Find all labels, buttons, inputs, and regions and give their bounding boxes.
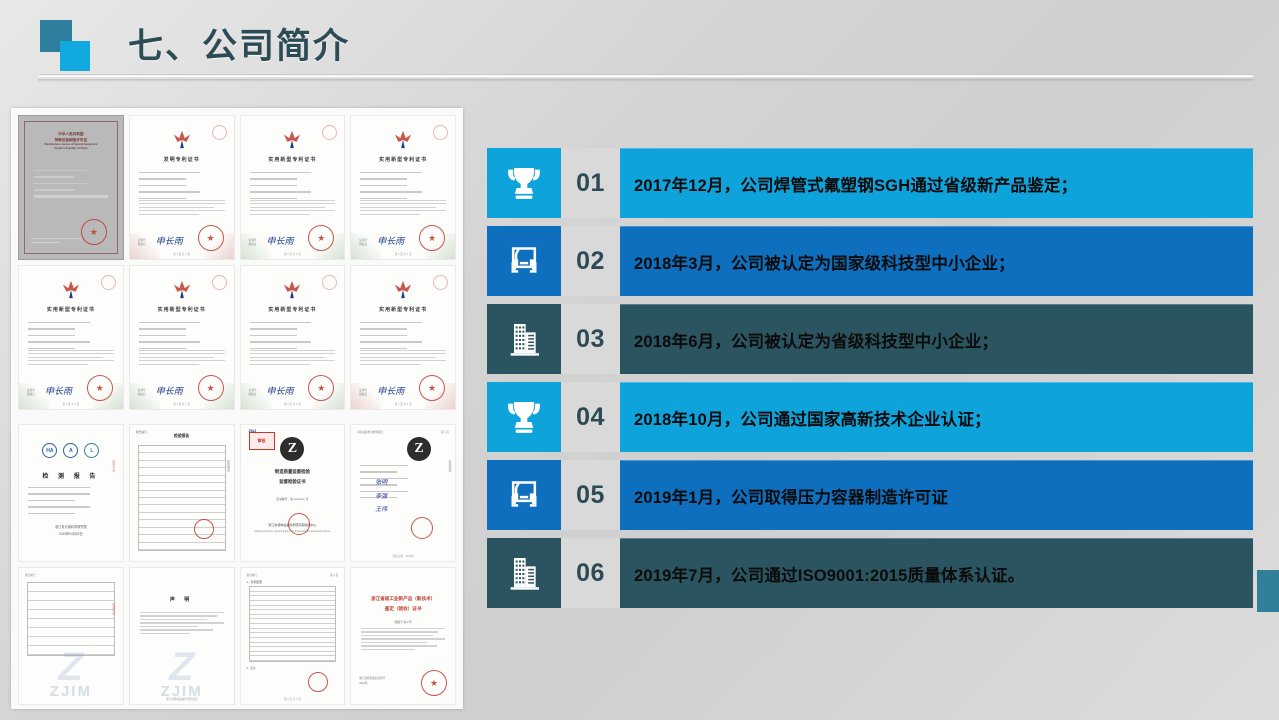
z-badge-icon: Z xyxy=(280,437,304,461)
header-divider xyxy=(38,74,1253,78)
certificate-card: 实用新型专利证书 证书号授权日 申长雨 第 1 页 共 1 页 xyxy=(129,265,235,410)
cert-title: 实用新型专利证书 xyxy=(351,306,455,313)
watermark-text: ZJIM xyxy=(50,683,92,700)
timeline-text: 2018年6月，公司被认定为省级科技型中小企业； xyxy=(620,304,1253,374)
cert-title: 发明专利证书 xyxy=(130,156,234,163)
certificate-card: 中华人民共和国 特种设备制造许可证 Manufacture License of… xyxy=(18,115,124,260)
edge-accent-bar xyxy=(1257,570,1279,612)
page-title: 七、公司简介 xyxy=(128,18,350,69)
certificate-card: 发明专利证书 证书号授权日 申长雨 第 1 页 共 1 页 xyxy=(129,115,235,260)
cert-subtitle: 鉴定（验收）证书 xyxy=(385,606,422,611)
timeline-number: 01 xyxy=(561,148,620,218)
timeline-number: 04 xyxy=(561,382,620,452)
timeline-text: 2017年12月，公司焊管式氟塑钢SGH通过省级新产品鉴定； xyxy=(620,148,1253,218)
timeline-text: 2019年1月，公司取得压力容器制造许可证 xyxy=(620,460,1253,530)
tablet-hands-icon-glyph xyxy=(504,475,544,515)
cert-title: 检验报告 xyxy=(130,434,234,439)
tablet-hands-icon-glyph xyxy=(504,241,544,281)
tablet-hands-icon xyxy=(487,460,561,530)
building-icon-glyph xyxy=(504,553,544,593)
cert-title: 实用新型专利证书 xyxy=(351,156,455,163)
cert-title: 实用新型专利证书 xyxy=(241,156,345,163)
timeline-row-05[interactable]: 05 2019年1月，公司取得压力容器制造许可证 xyxy=(487,460,1253,530)
timeline-number: 06 xyxy=(561,538,620,608)
slide-canvas: 七、公司简介 中华人民共和国 特种设备制造许可证 Manufacture Lic… xyxy=(0,0,1279,720)
achievements-timeline: 01 2017年12月，公司焊管式氟塑钢SGH通过省级新产品鉴定； 02 201… xyxy=(487,148,1253,616)
trophy-icon xyxy=(487,148,561,218)
timeline-text: 2019年7月，公司通过ISO9001:2015质量体系认证。 xyxy=(620,538,1253,608)
certificate-card: 实用新型专利证书 证书号授权日 申长雨 第 1 页 共 1 页 xyxy=(18,265,124,410)
certificate-card: 实用新型专利证书 证书号授权日 申长雨 第 1 页 共 1 页 xyxy=(240,115,346,260)
certificate-card: 实用新型专利证书 证书号授权日 申长雨 第 1 页 共 1 页 xyxy=(350,115,456,260)
timeline-row-04[interactable]: 04 2018年10月，公司通过国家高新技术企业认证； xyxy=(487,382,1253,452)
cert-approval-stamp xyxy=(249,432,275,450)
certificate-card: ZNJ Z 制造质量监督检验 监督检验证书 证书编号：第 xxxxxxxx 号 … xyxy=(240,424,346,562)
cert-title: 声 明 xyxy=(130,596,234,603)
building-icon-glyph xyxy=(504,319,544,359)
patent-logo-icon xyxy=(171,130,193,150)
certificate-grid-top: 中华人民共和国 特种设备制造许可证 Manufacture License of… xyxy=(11,108,463,417)
certificate-card: HAA L 检 测 报 告 浙江省计量科学研究院2019年04月02日 检验专用 xyxy=(18,424,124,562)
timeline-number: 03 xyxy=(561,304,620,374)
trophy-icon-glyph xyxy=(504,163,544,203)
building-icon xyxy=(487,304,561,374)
cert-subtitle: 监督检验证书 xyxy=(279,479,305,484)
timeline-number: 02 xyxy=(561,226,620,296)
certificate-card: 实用新型专利证书 证书号授权日 申长雨 第 1 页 共 1 页 xyxy=(240,265,346,410)
patent-logo-icon xyxy=(392,130,414,150)
patent-logo-icon xyxy=(281,130,303,150)
cert-seal xyxy=(81,219,107,245)
certificate-card: 浙江省级工业新产品（新技术） 鉴定（验收）证书 （浙鉴字 第xx号） 浙江省经济… xyxy=(350,567,456,705)
cert-title: 实用新型专利证书 xyxy=(19,306,123,313)
certificate-grid-bottom: HAA L 检 测 报 告 浙江省计量科学研究院2019年04月02日 检验专用… xyxy=(11,417,463,709)
decorative-square-cyan xyxy=(60,41,90,71)
certificate-card: 报告编号： Z ZJIM 检验专用 xyxy=(18,567,124,705)
timeline-row-03[interactable]: 03 2018年6月，公司被认定为省级科技型中小企业； xyxy=(487,304,1253,374)
cert-signature: 申长雨 xyxy=(156,234,183,247)
timeline-number: 05 xyxy=(561,460,620,530)
patent-logo-icon xyxy=(281,280,303,300)
trophy-icon-glyph xyxy=(504,397,544,437)
header-divider-shadow xyxy=(38,79,1253,82)
timeline-text: 2018年10月，公司通过国家高新技术企业认证； xyxy=(620,382,1253,452)
z-badge-icon: Z xyxy=(407,437,431,461)
certificate-card: 报告编号： 第 2 页 1、检测结果 2、结论 第 2 页 共 4 页 xyxy=(240,567,346,705)
patent-logo-icon xyxy=(171,280,193,300)
accreditation-marks: HAA L xyxy=(19,443,123,458)
timeline-row-01[interactable]: 01 2017年12月，公司焊管式氟塑钢SGH通过省级新产品鉴定； xyxy=(487,148,1253,218)
cert-title: 检 测 报 告 xyxy=(19,471,123,480)
certificate-card: 报告编号： 检验报告 检验报告 xyxy=(129,424,235,562)
trophy-icon xyxy=(487,382,561,452)
patent-logo-icon xyxy=(60,280,82,300)
certificates-panel: 中华人民共和国 特种设备制造许可证 Manufacture License of… xyxy=(11,108,463,709)
cert-title: 制造质量监督检验 xyxy=(275,469,310,474)
tablet-hands-icon xyxy=(487,226,561,296)
timeline-row-02[interactable]: 02 2018年3月，公司被认定为国家级科技型中小企业； xyxy=(487,226,1253,296)
timeline-text: 2018年3月，公司被认定为国家级科技型中小企业； xyxy=(620,226,1253,296)
timeline-row-06[interactable]: 06 2019年7月，公司通过ISO9001:2015质量体系认证。 xyxy=(487,538,1253,608)
cert-org: 浙江省计量科学研究院 xyxy=(55,525,87,529)
slide-header: 七、公司简介 xyxy=(0,0,1279,96)
cert-title: 实用新型专利证书 xyxy=(241,306,345,313)
certificate-card: 实用新型专利证书 证书号授权日 申长雨 第 1 页 共 1 页 xyxy=(350,265,456,410)
building-icon xyxy=(487,538,561,608)
certificate-card: 声 明 Z ZJIM 浙江省特种设备科学研究院 xyxy=(129,567,235,705)
certificate-card: 特种设备检验检测报告 第 1 页 Z 张明李强王伟 签发日期：2019年 检验检… xyxy=(350,424,456,562)
cert-stamp xyxy=(212,125,227,140)
cert-title-footer: People's Republic of China xyxy=(25,147,117,151)
cert-title: 实用新型专利证书 xyxy=(130,306,234,313)
patent-logo-icon xyxy=(392,280,414,300)
